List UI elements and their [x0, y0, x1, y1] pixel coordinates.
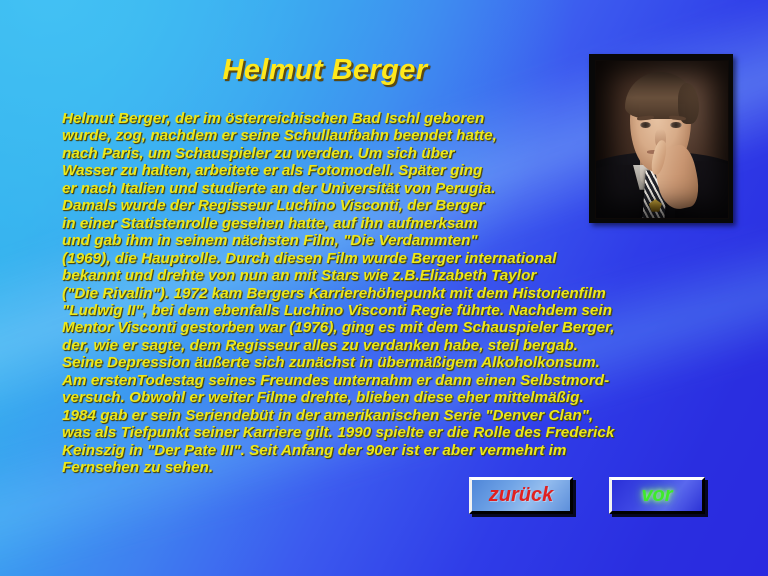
page-title: Helmut Berger	[0, 54, 650, 87]
biography-text: Helmut Berger, der im österreichischen B…	[62, 110, 742, 477]
back-button-label: zurück	[489, 484, 553, 507]
presentation-slide: Helmut Berger Helmut Berger, der im öste	[0, 0, 768, 576]
back-button[interactable]: zurück	[469, 477, 573, 514]
next-button-label: vor	[641, 484, 672, 507]
next-button[interactable]: vor	[609, 477, 705, 514]
